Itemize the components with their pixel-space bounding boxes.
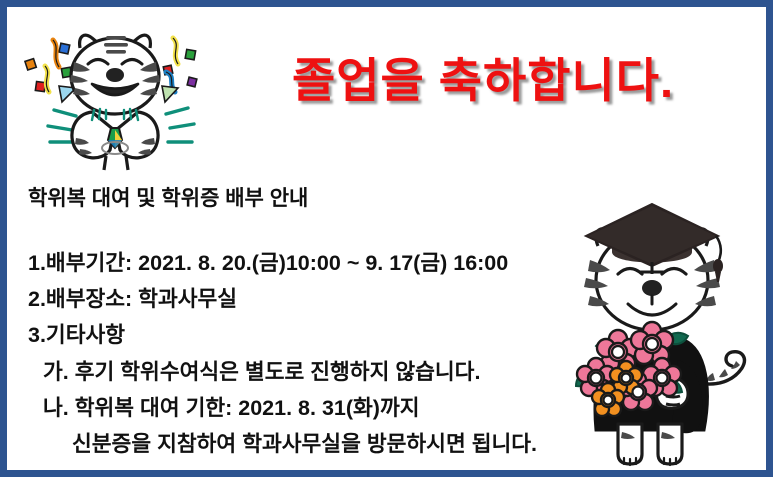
cap-tassel [713, 236, 723, 282]
notice-subtitle: 학위복 대여 및 학위증 배부 안내 [28, 182, 308, 212]
notice-line-distribution-period: 1.배부기간: 2021. 8. 20.(금)10:00 ~ 9. 17(금) … [28, 246, 508, 277]
tiger-nose [106, 68, 124, 82]
graduation-announcement-poster: 졸업을 축하합니다. 학위복 대여 및 학위증 배부 안내 1.배부기간: 20… [0, 0, 773, 477]
notice-line-other-matters: 3.기타사항 [28, 318, 125, 349]
page-title: 졸업을 축하합니다. [292, 54, 762, 108]
poster-inner-frame: 졸업을 축하합니다. 학위복 대여 및 학위증 배부 안내 1.배부기간: 20… [7, 7, 766, 470]
notice-line-item-na-continued: 신분증을 지참하여 학과사무실을 방문하시면 됩니다. [72, 427, 537, 458]
notice-line-distribution-place: 2.배부장소: 학과사무실 [28, 282, 237, 313]
notice-line-item-ga: 가. 후기 학위수여식은 별도로 진행하지 않습니다. [43, 355, 480, 386]
confetti-left [25, 40, 76, 102]
tiger-nose [642, 280, 662, 296]
cheering-tiger-mascot [18, 18, 268, 173]
confetti-right [162, 38, 197, 102]
graduate-tiger-mascot [566, 192, 773, 477]
notice-line-item-na: 나. 학위복 대여 기한: 2021. 8. 31(화)까지 [43, 391, 420, 422]
